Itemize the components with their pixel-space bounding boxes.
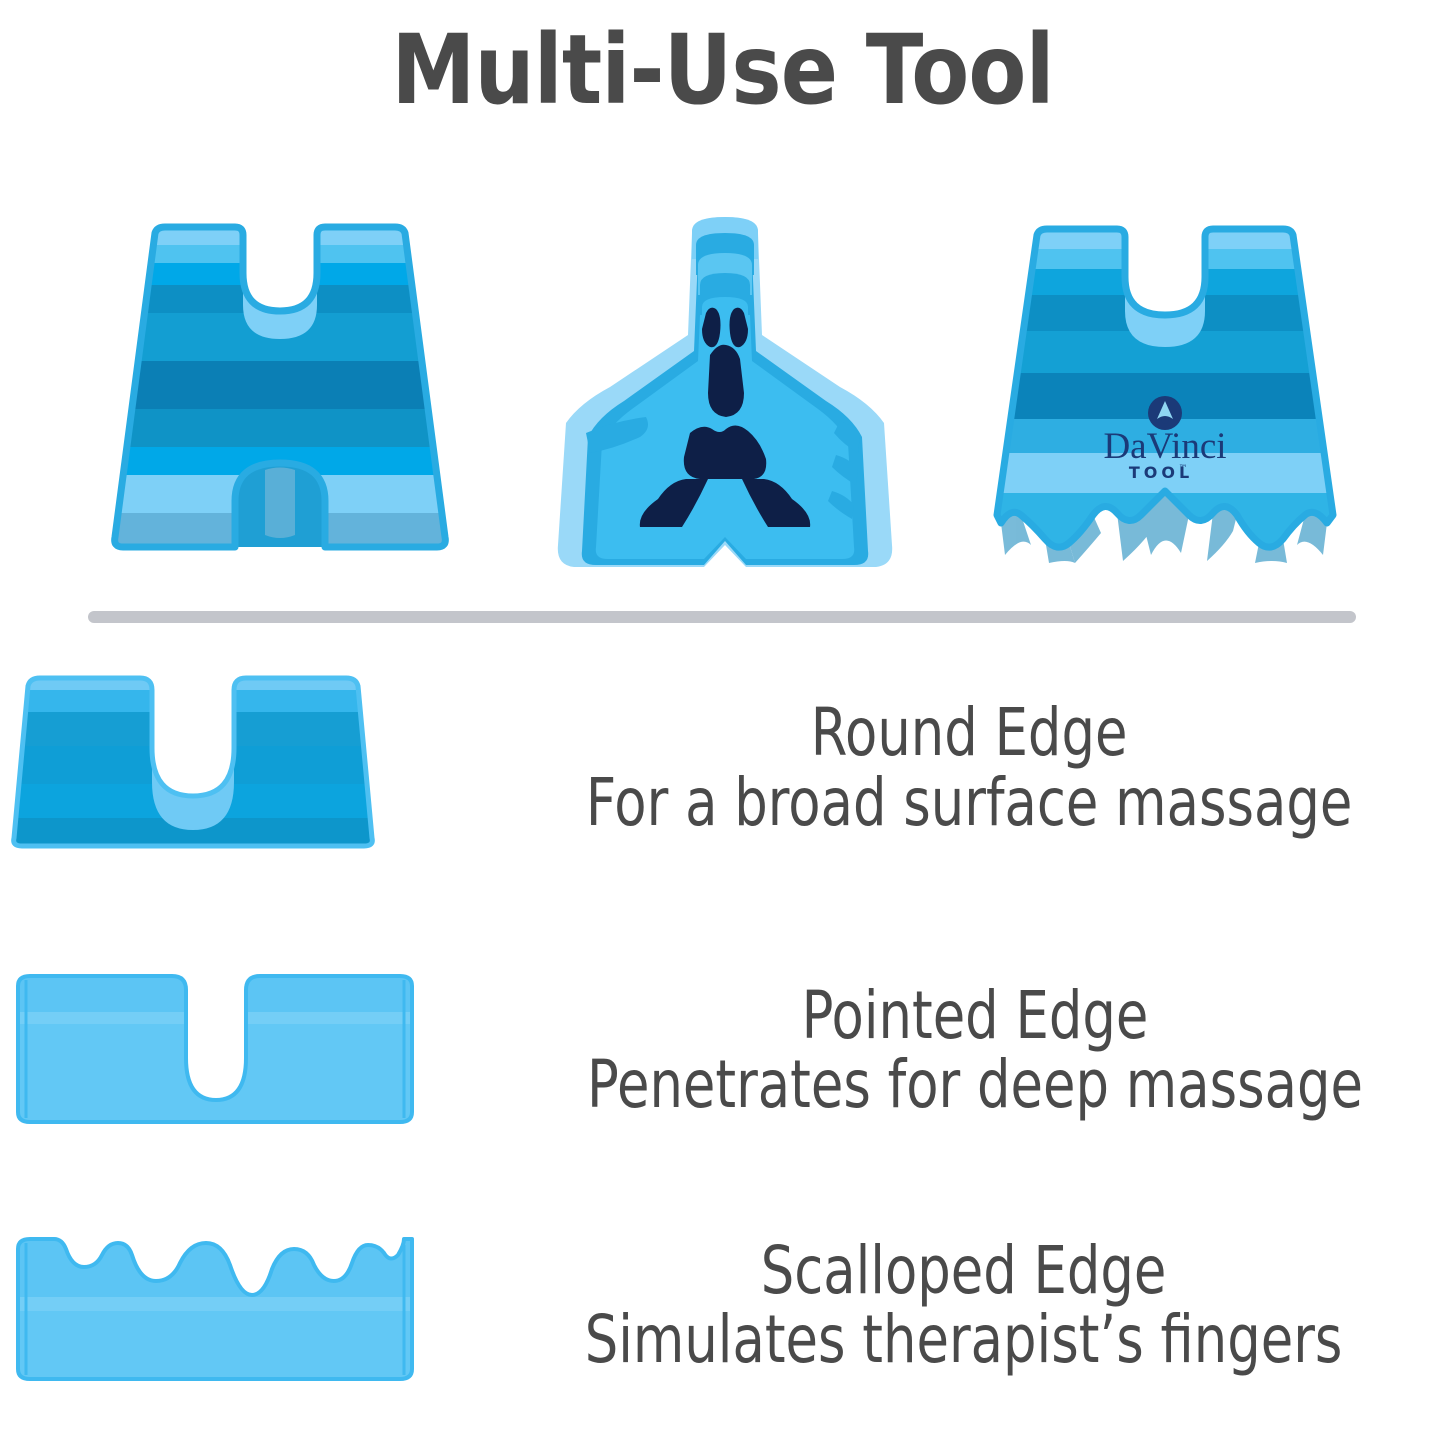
feature-text-scalloped-edge: Scalloped Edge Simulates therapist’s fin… [490, 1237, 1445, 1374]
infographic-page: Multi-Use Tool [0, 0, 1445, 1445]
hero-image-tool-front-view [95, 215, 465, 595]
scalloped-edge-graphic [0, 1205, 490, 1405]
feature-title-round-edge: Round Edge [586, 699, 1353, 766]
feature-title-scalloped-edge: Scalloped Edge [585, 1237, 1343, 1304]
tool-branded-view-graphic: DaVinci TOOL ™ [975, 215, 1355, 595]
feature-subtitle-scalloped-edge: Simulates therapist’s fingers [585, 1306, 1343, 1373]
section-divider [88, 611, 1356, 623]
feature-text-pointed-edge: Pointed Edge Penetrates for deep massage [490, 982, 1445, 1119]
feature-title-pointed-edge: Pointed Edge [587, 982, 1363, 1049]
round-edge-profile-illustration [0, 660, 490, 875]
round-edge-bands [0, 660, 490, 875]
hero-image-tool-angled-view [540, 215, 910, 595]
trefoil-center [1162, 417, 1169, 424]
scalloped-edge-bands [0, 1205, 490, 1405]
feature-subtitle-round-edge: For a broad surface massage [586, 769, 1353, 836]
bottom-notch-highlight [265, 468, 295, 539]
scalloped-edge-profile-illustration [0, 1205, 490, 1405]
hero-product-row: DaVinci TOOL ™ [0, 215, 1445, 595]
page-title: Multi-Use Tool [87, 18, 1359, 124]
feature-subtitle-pointed-edge: Penetrates for deep massage [587, 1051, 1363, 1118]
brand-name: DaVinci [1103, 426, 1226, 467]
feature-row-scalloped-edge: Scalloped Edge Simulates therapist’s fin… [0, 1205, 1445, 1405]
feature-row-round-edge: Round Edge For a broad surface massage [0, 660, 1445, 875]
tool-front-view-graphic [95, 215, 465, 595]
feature-text-round-edge: Round Edge For a broad surface massage [490, 699, 1445, 836]
pointed-edge-profile-illustration [0, 950, 490, 1150]
cavity-center-upper [708, 345, 744, 417]
pointed-edge-graphic [0, 950, 490, 1150]
round-edge-graphic [0, 660, 490, 875]
tool-angled-view-graphic [540, 215, 910, 595]
brand-trademark: ™ [1179, 464, 1188, 474]
feature-row-pointed-edge: Pointed Edge Penetrates for deep massage [0, 950, 1445, 1150]
hero-image-tool-branded-view: DaVinci TOOL ™ [975, 215, 1355, 595]
